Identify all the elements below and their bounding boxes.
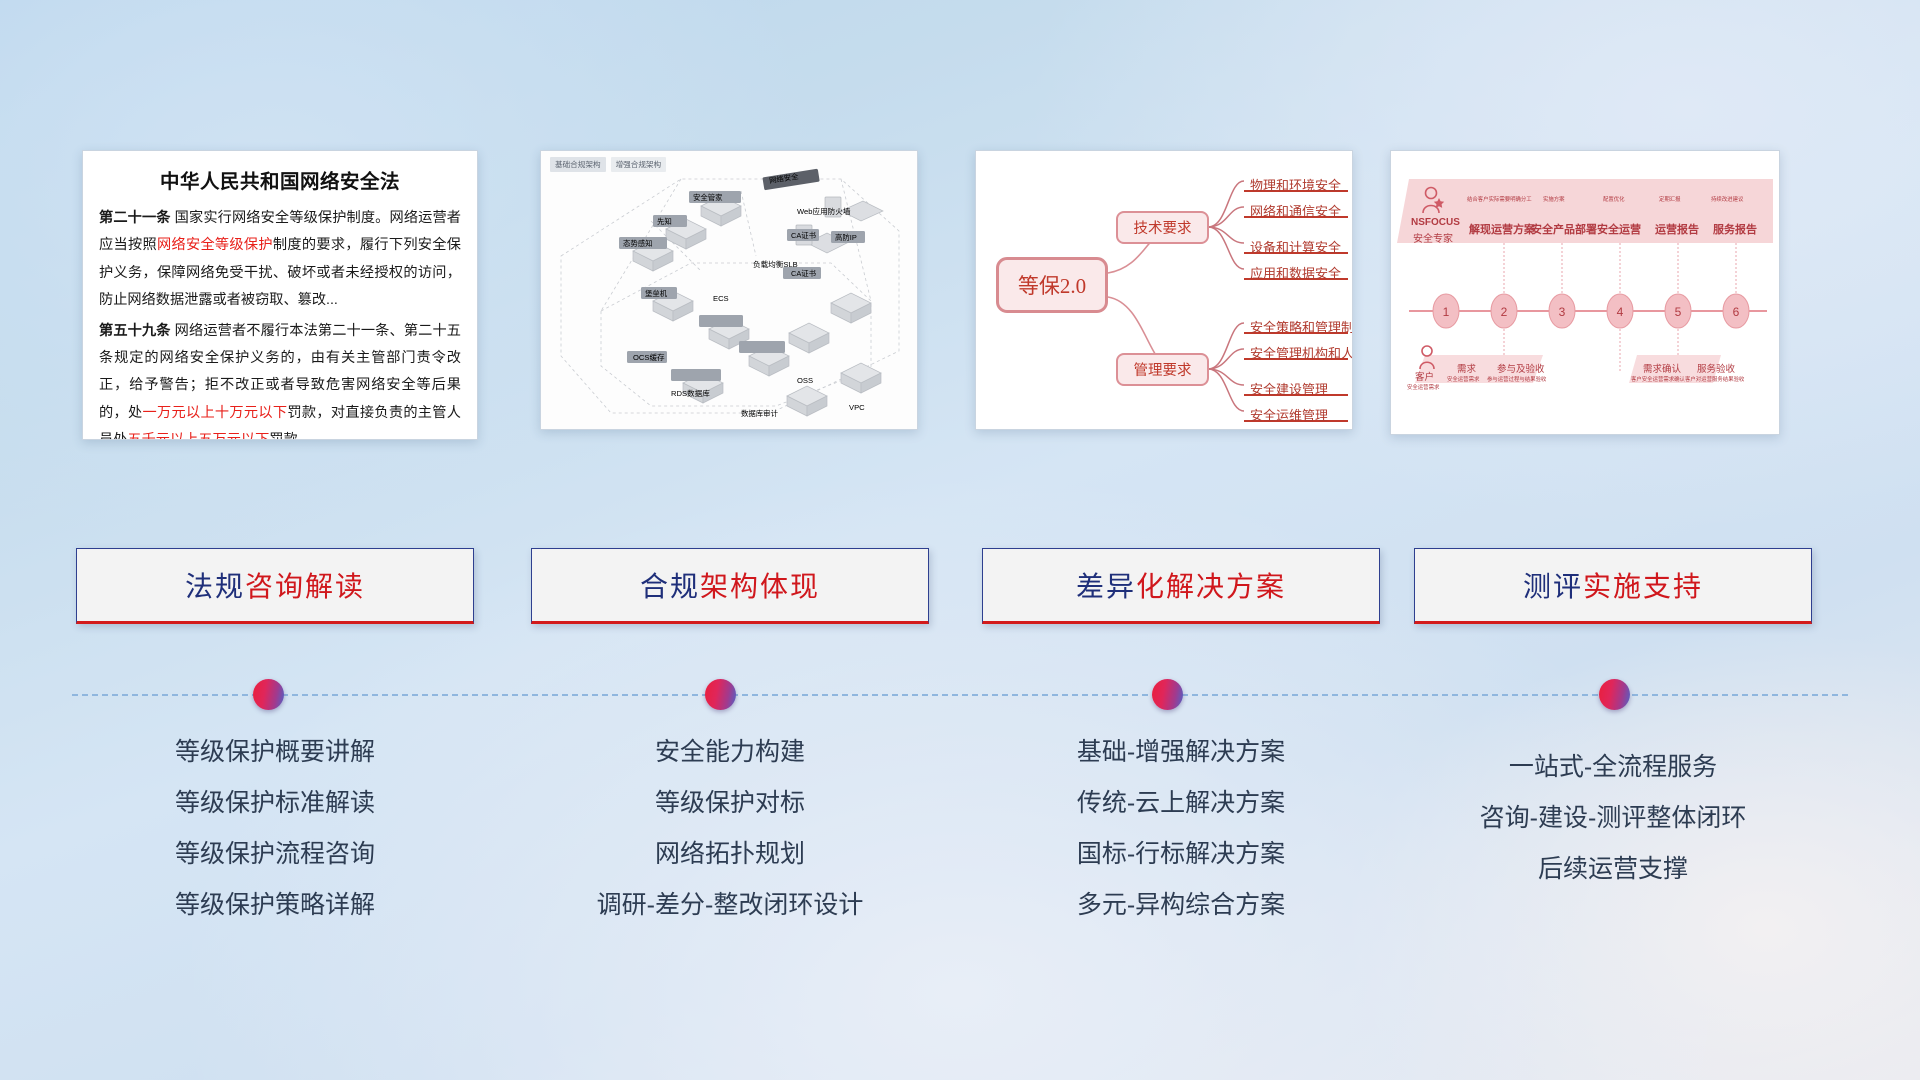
timeline-dashed-line <box>72 694 1848 696</box>
bottom-item-3-label: 需求确认 <box>1643 361 1681 375</box>
svg-text:5: 5 <box>1675 305 1682 319</box>
service-timeline-svg: 1 2 3 4 5 6 <box>1391 151 1780 435</box>
arch-label-security-butler: 安全管家 <box>693 192 723 203</box>
step-2-sub: 实施方案 <box>1543 195 1565 203</box>
svg-text:1: 1 <box>1443 305 1450 319</box>
card-architecture-diagram[interactable]: 基础合规架构 增强合规架构 <box>540 150 918 430</box>
step-1-sub: 结合客户实际需要明确分工 <box>1467 195 1532 203</box>
list-item: 等级保护标准解读 <box>76 791 474 816</box>
arch-label-vpc: VPC <box>849 403 865 412</box>
section-title-3-red: 化解决方案 <box>1136 571 1286 602</box>
list-item: 网络拓扑规划 <box>531 842 929 867</box>
bottom-item-1-sub: 安全运营需求 <box>1447 375 1479 383</box>
law-article-59-text-c: 罚款。 <box>269 432 312 440</box>
section-title-3-text: 差异化解决方案 <box>1076 565 1286 605</box>
section-title-2[interactable]: 合规架构体现 <box>531 548 929 624</box>
law-title: 中华人民共和国网络安全法 <box>99 165 461 194</box>
arch-label-situational-awareness: 态势感知 <box>623 238 653 249</box>
card-row: 中华人民共和国网络安全法 第二十一条 国家实行网络安全等级保护制度。网络运营者应… <box>0 150 1920 445</box>
list-item: 多元-异构综合方案 <box>982 893 1380 918</box>
nsfocus-brand: NSFOCUS <box>1411 217 1460 228</box>
bottom-item-2-sub: 参与运营过程与结果验收 <box>1487 375 1546 383</box>
timeline-dot-3[interactable] <box>1152 679 1183 710</box>
section-title-3[interactable]: 差异化解决方案 <box>982 548 1380 624</box>
section-title-4-text: 测评实施支持 <box>1523 565 1703 605</box>
mind-branch-technical[interactable]: 技术要求 <box>1116 211 1209 244</box>
step-5-title: 服务报告 <box>1713 221 1757 237</box>
law-article-59-highlight-2: 五千元以上五万元以下 <box>127 432 269 440</box>
list-item: 一站式-全流程服务 <box>1414 755 1812 780</box>
arch-label-waf: Web应用防火墙 <box>797 206 850 217</box>
step-4-title: 运营报告 <box>1655 221 1699 237</box>
svg-text:6: 6 <box>1733 305 1740 319</box>
bottom-item-3-sub: 客户安全运营需求确认 <box>1631 375 1685 383</box>
law-article-21-highlight: 网络安全等级保护 <box>157 237 273 253</box>
card-service-timeline[interactable]: 1 2 3 4 5 6 <box>1390 150 1780 435</box>
section-list-3: 基础-增强解决方案 传统-云上解决方案 国标-行标解决方案 多元-异构综合方案 <box>982 740 1380 944</box>
mind-leaf-network-comm-security: 网络和通信安全 <box>1250 201 1341 220</box>
bottom-item-4-sub: 客户对运营服务结果验收 <box>1685 375 1744 383</box>
list-item: 基础-增强解决方案 <box>982 740 1380 765</box>
mind-leaf-security-build-mgmt: 安全建设管理 <box>1250 379 1328 398</box>
mind-leaf-security-policy: 安全策略和管理制度 <box>1250 317 1353 336</box>
list-item: 传统-云上解决方案 <box>982 791 1380 816</box>
svg-text:3: 3 <box>1559 305 1566 319</box>
mind-branch-management[interactable]: 管理要求 <box>1116 353 1209 386</box>
section-list-1: 等级保护概要讲解 等级保护标准解读 等级保护流程咨询 等级保护策略详解 <box>76 740 474 944</box>
svg-text:2: 2 <box>1501 305 1508 319</box>
mind-leaf-security-ops-mgmt: 安全运维管理 <box>1250 405 1328 424</box>
list-item: 调研-差分-整改闭环设计 <box>531 893 929 918</box>
section-title-4-red: 实施支持 <box>1583 571 1703 602</box>
arch-label-ocs-cache: OCS缓存 <box>633 352 665 363</box>
step-3-sub: 配置优化 <box>1603 195 1625 203</box>
mind-leaf-physical-env-security: 物理和环境安全 <box>1250 175 1341 194</box>
step-1-title: 解现运营方案 <box>1469 221 1535 237</box>
bottom-item-1-label: 需求 <box>1457 361 1476 375</box>
nsfocus-brand-sub: 安全专家 <box>1413 230 1453 245</box>
architecture-svg <box>541 151 918 430</box>
service-timeline-canvas: 1 2 3 4 5 6 <box>1391 151 1779 434</box>
arch-label-anti-ddos-ip: 高防IP <box>835 232 857 243</box>
law-article-59: 第五十九条 网络运营者不履行本法第二十一条、第二十五条规定的网络安全保护义务的，… <box>99 318 461 440</box>
step-5-sub: 持续改进建议 <box>1711 195 1743 203</box>
step-4-sub: 定期汇报 <box>1659 195 1681 203</box>
arch-label-ca-certificate: CA证书 <box>791 230 816 241</box>
list-item: 等级保护概要讲解 <box>76 740 474 765</box>
mind-leaf-device-compute-security: 设备和计算安全 <box>1250 237 1341 256</box>
list-item: 后续运营支撑 <box>1414 857 1812 882</box>
list-item: 等级保护策略详解 <box>76 893 474 918</box>
section-title-4-blue: 测评 <box>1523 571 1583 602</box>
section-title-1-text: 法规咨询解读 <box>185 565 365 605</box>
arch-label-bastion-host: 堡垒机 <box>645 288 667 299</box>
bottom-item-2-label: 参与及验收 <box>1497 361 1545 375</box>
mind-map-canvas: 等保2.0 技术要求 管理要求 物理和环境安全 网络和通信安全 设备和计算安全 … <box>976 151 1352 429</box>
section-list-2: 安全能力构建 等级保护对标 网络拓扑规划 调研-差分-整改闭环设计 <box>531 740 929 944</box>
timeline-dot-1[interactable] <box>253 679 284 710</box>
arch-label-rds-database: RDS数据库 <box>671 388 710 399</box>
list-item: 咨询-建设-测评整体闭环 <box>1414 806 1812 831</box>
step-2-title: 安全产品部署 <box>1531 221 1597 237</box>
section-title-2-blue: 合规 <box>640 571 700 602</box>
customer-sub: 安全运营需求 <box>1407 383 1439 391</box>
mind-leaf-app-data-security: 应用和数据安全 <box>1250 263 1341 282</box>
section-title-3-blue: 差异 <box>1076 571 1136 602</box>
arch-label-oss: OSS <box>797 376 813 385</box>
customer-label: 客户 <box>1415 369 1434 383</box>
poster-canvas: 中华人民共和国网络安全法 第二十一条 国家实行网络安全等级保护制度。网络运营者应… <box>0 0 1920 1080</box>
architecture-canvas: 基础合规架构 增强合规架构 <box>541 151 917 429</box>
section-title-2-red: 架构体现 <box>700 571 820 602</box>
step-3-title: 安全运营 <box>1597 221 1641 237</box>
law-article-21: 第二十一条 国家实行网络安全等级保护制度。网络运营者应当按照网络安全等级保护制度… <box>99 205 461 315</box>
section-list-4: 一站式-全流程服务 咨询-建设-测评整体闭环 后续运营支撑 <box>1414 755 1812 908</box>
arch-label-ecs: ECS <box>713 294 729 303</box>
arch-node-shapes <box>633 196 883 416</box>
section-title-4[interactable]: 测评实施支持 <box>1414 548 1812 624</box>
card-mind-map[interactable]: 等保2.0 技术要求 管理要求 物理和环境安全 网络和通信安全 设备和计算安全 … <box>975 150 1353 430</box>
card-law-text[interactable]: 中华人民共和国网络安全法 第二十一条 国家实行网络安全等级保护制度。网络运营者应… <box>82 150 478 440</box>
section-title-1-red: 咨询解读 <box>245 571 365 602</box>
svg-text:4: 4 <box>1617 305 1624 319</box>
mind-root-node[interactable]: 等保2.0 <box>996 257 1108 313</box>
list-item: 等级保护对标 <box>531 791 929 816</box>
arch-label-slb: 负载均衡SLB <box>753 259 798 270</box>
law-article-59-label: 第五十九条 <box>99 323 171 339</box>
section-title-1[interactable]: 法规咨询解读 <box>76 548 474 624</box>
arch-label-database-audit: 数据库审计 <box>741 408 778 419</box>
law-article-21-label: 第二十一条 <box>99 210 171 226</box>
arch-label-foresight: 先知 <box>657 216 672 227</box>
timeline-dot-4[interactable] <box>1599 679 1630 710</box>
timeline-dot-2[interactable] <box>705 679 736 710</box>
law-body: 中华人民共和国网络安全法 第二十一条 国家实行网络安全等级保护制度。网络运营者应… <box>83 151 477 440</box>
law-article-59-highlight-1: 一万元以上十万元以下 <box>142 405 287 421</box>
list-item: 安全能力构建 <box>531 740 929 765</box>
list-item: 国标-行标解决方案 <box>982 842 1380 867</box>
section-title-1-blue: 法规 <box>185 571 245 602</box>
mind-leaf-security-org-personnel: 安全管理机构和人员 <box>1250 343 1353 362</box>
list-item: 等级保护流程咨询 <box>76 842 474 867</box>
bottom-item-4-label: 服务验收 <box>1697 361 1735 375</box>
section-title-2-text: 合规架构体现 <box>640 565 820 605</box>
